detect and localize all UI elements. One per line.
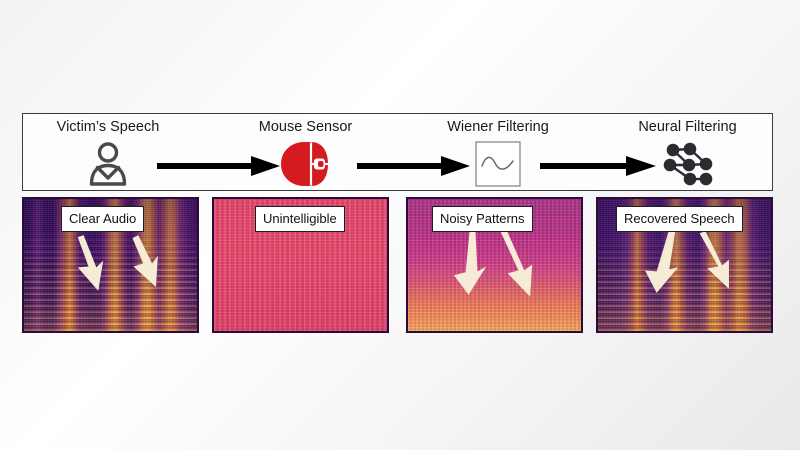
mouse-icon <box>280 141 330 187</box>
callout-recovered-speech: Recovered Speech <box>616 206 743 232</box>
neural-network-icon-wrap <box>643 140 733 188</box>
spectrogram-clear-audio: Clear Audio <box>22 197 199 333</box>
waveform-box-icon-wrap <box>453 140 543 188</box>
stage-label-wiener-filtering: Wiener Filtering <box>423 117 573 137</box>
figure-canvas: Victim’s Speech Mouse Sensor Wiener Filt… <box>0 0 800 450</box>
person-icon-wrap <box>63 140 153 188</box>
spectrogram-noisy-patterns: Noisy Patterns <box>406 197 583 333</box>
callout-noisy-patterns: Noisy Patterns <box>432 206 533 232</box>
stage-label-mouse-sensor: Mouse Sensor <box>233 117 378 137</box>
neural-network-icon <box>660 140 716 188</box>
arrow-wiener-to-neural <box>538 155 656 177</box>
callout-unintelligible: Unintelligible <box>255 206 345 232</box>
stage-label-neural-filtering: Neural Filtering <box>610 117 765 137</box>
mouse-icon-wrap <box>260 140 350 188</box>
callout-clear-audio: Clear Audio <box>61 206 144 232</box>
stage-label-victims-speech: Victim’s Speech <box>38 117 178 137</box>
spectrogram-unintelligible: Unintelligible <box>212 197 389 333</box>
person-icon <box>85 140 131 188</box>
waveform-box-icon <box>475 141 521 187</box>
spectrogram-recovered-speech: Recovered Speech <box>596 197 773 333</box>
